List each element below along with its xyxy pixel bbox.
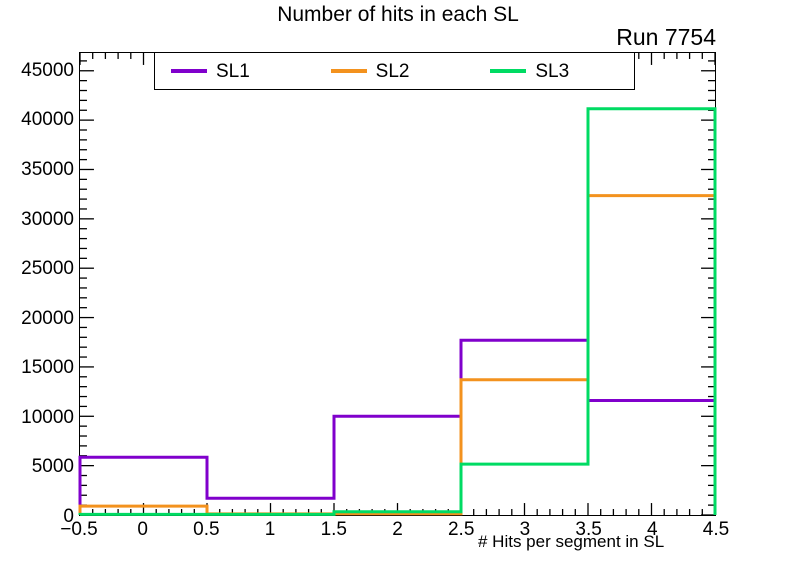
x-tick-label: 3 xyxy=(520,520,531,539)
x-tick-label: 1 xyxy=(265,520,276,539)
y-tick-label: 5000 xyxy=(32,457,74,476)
legend-swatch-sl3-icon xyxy=(490,69,526,73)
y-tick-label: 40000 xyxy=(21,110,74,129)
x-tick-label: 4 xyxy=(647,520,658,539)
legend-entry-sl2[interactable]: SL2 xyxy=(315,62,475,81)
y-tick-label: 25000 xyxy=(21,259,74,278)
x-tick-label: 1.5 xyxy=(321,520,347,539)
x-tick-label: 2.5 xyxy=(448,520,474,539)
y-tick-label: 35000 xyxy=(21,160,74,179)
histogram-step-sl1 xyxy=(80,340,715,515)
y-tick-label: 20000 xyxy=(21,309,74,328)
y-axis-tick-labels: 0500010000150002000025000300003500040000… xyxy=(0,0,74,572)
x-axis-tick-labels: −0.500.511.522.533.544.5 xyxy=(0,520,796,546)
legend-entry-sl1[interactable]: SL1 xyxy=(155,62,315,81)
chart-canvas: Number of hits in each SL Run 7754 # Seg… xyxy=(0,0,796,572)
axis-ticks xyxy=(80,53,715,515)
legend-entry-sl3[interactable]: SL3 xyxy=(474,62,634,81)
x-tick-label: 2 xyxy=(392,520,403,539)
histogram-step-sl2 xyxy=(80,196,715,515)
histogram-plot xyxy=(80,53,715,515)
plot-frame xyxy=(79,52,716,516)
legend: SL1SL2SL3 xyxy=(154,52,635,90)
legend-label: SL3 xyxy=(535,62,569,81)
legend-swatch-sl2-icon xyxy=(331,69,367,73)
histogram-step-sl3 xyxy=(80,109,715,515)
y-tick-label: 30000 xyxy=(21,210,74,229)
legend-label: SL1 xyxy=(216,62,250,81)
x-tick-label: −0.5 xyxy=(60,520,98,539)
y-tick-label: 15000 xyxy=(21,358,74,377)
legend-swatch-sl1-icon xyxy=(171,69,207,73)
x-tick-label: 0.5 xyxy=(193,520,219,539)
x-tick-label: 0 xyxy=(137,520,148,539)
x-tick-label: 3.5 xyxy=(575,520,601,539)
y-tick-label: 10000 xyxy=(21,408,74,427)
x-tick-label: 4.5 xyxy=(703,520,729,539)
run-annotation-label: Run 7754 xyxy=(0,24,716,50)
y-tick-label: 45000 xyxy=(21,61,74,80)
legend-label: SL2 xyxy=(376,62,410,81)
